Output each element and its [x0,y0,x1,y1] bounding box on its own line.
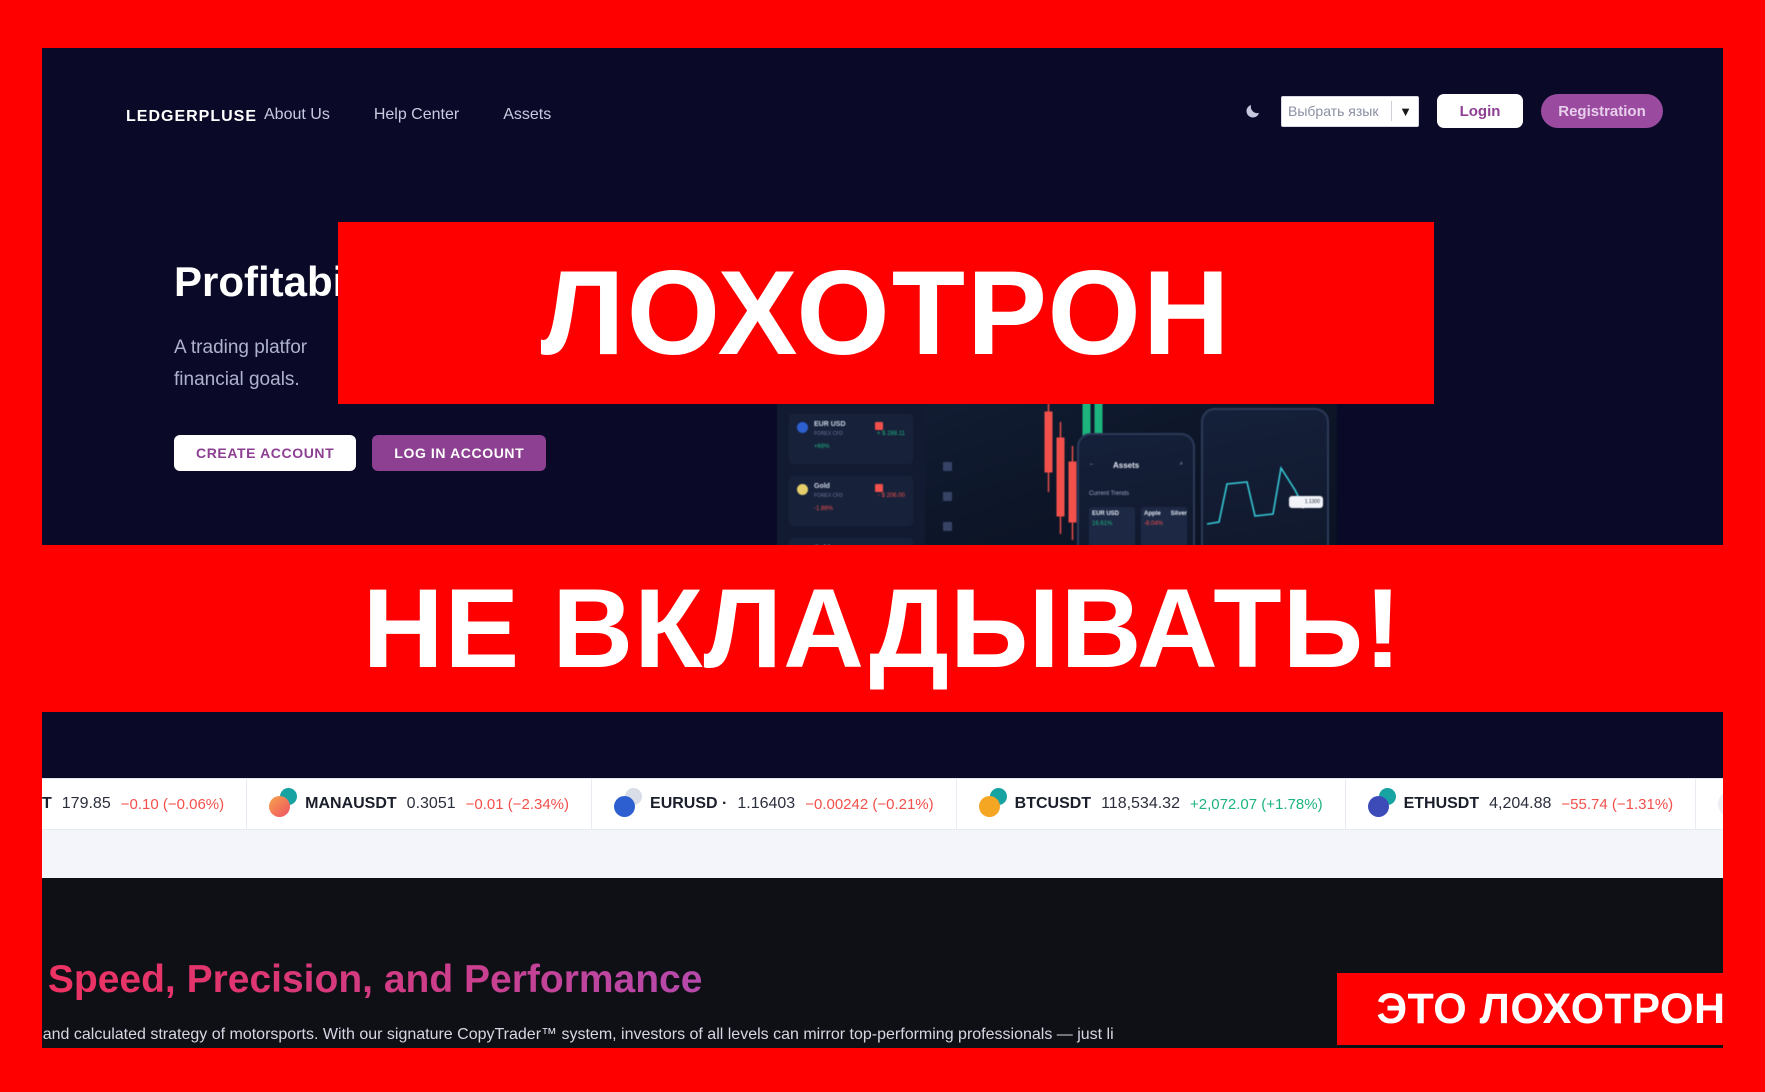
mockup-asset-card: EUR USD FOREX CFD +66% + $ 288.11 [789,414,913,464]
log-in-account-button[interactable]: LOG IN ACCOUNT [372,435,546,471]
asset-name: Gold [814,483,830,490]
asset-sub: FOREX CFD [814,493,843,499]
asset-dot-icon [797,484,808,495]
login-button[interactable]: Login [1437,94,1523,128]
asset-status-icon [875,484,883,492]
eurusd-logo-icon [614,791,640,817]
language-select-value: Выбрать язык [1288,103,1378,119]
phone-section-label: Current Trends [1089,491,1129,497]
market-ticker-tape[interactable]: T 179.85 −0.10 (−0.06%) MANAUSDT 0.3051 … [42,778,1723,830]
ticker-logo-icon [1718,791,1723,817]
back-arrow-icon: ← [1089,461,1095,467]
scam-overlay-do-not-invest: НЕ ВКЛАДЫВАТЬ! [0,545,1765,712]
asset-percent: +66% [814,444,830,450]
ticker-symbol: ETHUSDT [1404,795,1480,813]
search-icon: ⌕ [1180,461,1183,468]
language-select-divider [1391,101,1392,121]
scam-overlay-lohotron: ЛОХОТРОН [338,222,1434,404]
ticker-symbol: BTCUSDT [1015,795,1091,813]
ticker-price: 1.16403 [737,795,795,813]
phone-item-label: Silver [1171,511,1187,517]
phone-item-pct: -8.04% [1144,521,1163,527]
ticker-price: 0.3051 [407,795,456,813]
ticker-price: 4,204.88 [1489,795,1551,813]
ticker-change: +2,072.07 (+1.78%) [1190,796,1323,813]
site-header: LEDGERPLUSE About Us Help Center Assets … [42,48,1723,163]
asset-status-icon [875,422,883,430]
scam-badge-this-is-a-scam: ЭТО ЛОХОТРОН [1337,973,1765,1045]
ticker-item[interactable]: EURUSD · 1.16403 −0.00242 (−0.21%) [592,779,957,829]
feature-title: red by Speed, Precision, and Performance [42,958,1320,1002]
manausdt-logo-icon [269,791,295,817]
phone-title: Assets [1113,461,1139,470]
screenshot-stage: LEDGERPLUSE About Us Help Center Assets … [0,0,1765,1092]
asset-percent: -1.86% [814,506,833,512]
ticker-symbol: MANAUSDT [305,795,397,813]
asset-name: EUR USD [814,421,846,428]
brand-logo[interactable]: LEDGERPLUSE [126,108,257,126]
chevron-down-icon: ▼ [1399,104,1412,119]
ticker-price: 118,534.32 [1101,795,1180,813]
btcusdt-logo-icon [979,791,1005,817]
main-navigation: About Us Help Center Assets [264,106,551,124]
nav-item-about-us[interactable]: About Us [264,106,330,124]
create-account-button[interactable]: CREATE ACCOUNT [174,435,356,471]
ticker-item[interactable]: BTCUSDT 118,534.32 +2,072.07 (+1.78%) [957,779,1346,829]
moon-icon[interactable] [1243,101,1263,121]
asset-sub: FOREX CFD [814,431,843,437]
phone-item-pct: 16.61% [1092,521,1112,527]
hero-subtitle-line-1: A trading platfor [174,337,307,358]
ticker-item[interactable]: ETHUSDT 4,204.88 −55.74 (−1.31%) [1346,779,1697,829]
ticker-item[interactable]: MANAUSDT 0.3051 −0.01 (−2.34%) [247,779,592,829]
phone-item-label: EUR USD [1092,511,1119,517]
ticker-change: −0.01 (−2.34%) [466,796,569,813]
ticker-change: −0.10 (−0.06%) [121,796,224,813]
header-actions: Выбрать язык ▼ Login Registration [1243,94,1663,128]
hero-cta-group: CREATE ACCOUNT LOG IN ACCOUNT [174,435,794,471]
ticker-change: −0.00242 (−0.21%) [805,796,933,813]
ticker-symbol: EURUSD · [650,795,727,813]
ethusdt-logo-icon [1368,791,1394,817]
nav-item-help-center[interactable]: Help Center [374,106,459,124]
phone-price-value: 1.1300 [1305,499,1320,505]
ticker-item[interactable]: T 179.85 −0.10 (−0.06%) [42,779,247,829]
nav-item-assets[interactable]: Assets [503,106,551,124]
ticker-symbol: T [42,795,52,813]
ticker-price: 179.85 [62,795,111,813]
asset-value: - $ 206.00 [878,493,905,499]
ticker-item-partial[interactable] [1696,779,1723,829]
mockup-asset-card: Gold FOREX CFD -1.86% - $ 206.00 [789,476,913,526]
phone-item-label: Apple [1144,511,1161,517]
language-select[interactable]: Выбрать язык ▼ [1281,96,1419,127]
ticker-change: −55.74 (−1.31%) [1561,796,1673,813]
hero-subtitle-line-2: financial goals. [174,369,300,390]
ticker-scroll-area[interactable] [42,830,1723,878]
asset-value: + $ 288.11 [877,431,905,437]
registration-button[interactable]: Registration [1541,94,1663,128]
asset-dot-icon [797,422,808,433]
